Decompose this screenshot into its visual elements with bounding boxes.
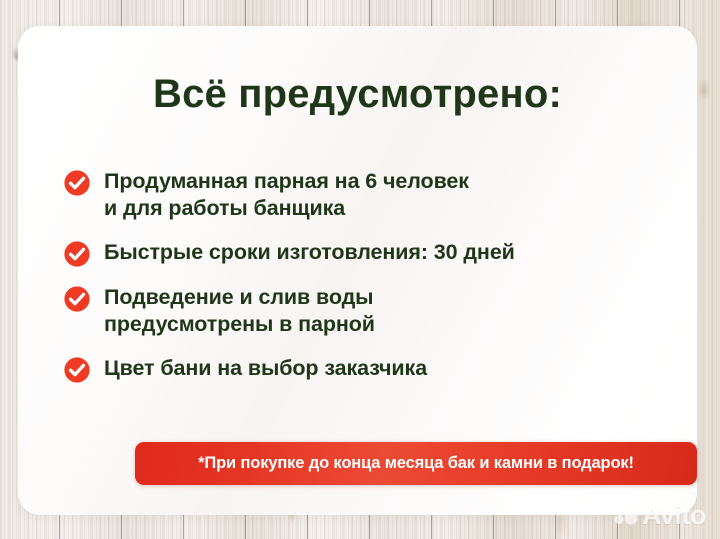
promo-banner: *При покупке до конца месяца бак и камни… [135,442,697,485]
list-item-text: Подведение и слив воды предусмотрены в п… [104,284,375,338]
poster-image: Всё предусмотрено: Продуманная парная на… [0,0,720,539]
list-item-text: Цвет бани на выбор заказчика [104,355,427,382]
check-circle-icon [64,286,90,312]
promo-banner-text: *При покупке до конца месяца бак и камни… [198,454,634,473]
list-item-line-2: предусмотрены в парной [104,311,375,338]
list-item: Продуманная парная на 6 человек и для ра… [64,168,657,222]
check-circle-icon [64,357,90,383]
list-item: Быстрые сроки изготовления: 30 дней [64,239,657,267]
check-circle-icon [64,170,90,196]
list-item-text: Продуманная парная на 6 человек и для ра… [104,168,469,222]
page-title: Всё предусмотрено: [18,70,697,118]
list-item-line-2: и для работы банщика [104,195,469,222]
list-item: Подведение и слив воды предусмотрены в п… [64,284,657,338]
list-item-text: Быстрые сроки изготовления: 30 дней [104,239,515,266]
list-item-line-1: Цвет бани на выбор заказчика [104,356,427,380]
check-circle-icon [64,241,90,267]
list-item: Цвет бани на выбор заказчика [64,355,657,383]
list-item-line-1: Продуманная парная на 6 человек [104,169,469,193]
list-item-line-1: Подведение и слив воды [104,285,373,309]
features-list: Продуманная парная на 6 человек и для ра… [64,168,657,383]
list-item-line-1: Быстрые сроки изготовления: 30 дней [104,240,515,264]
